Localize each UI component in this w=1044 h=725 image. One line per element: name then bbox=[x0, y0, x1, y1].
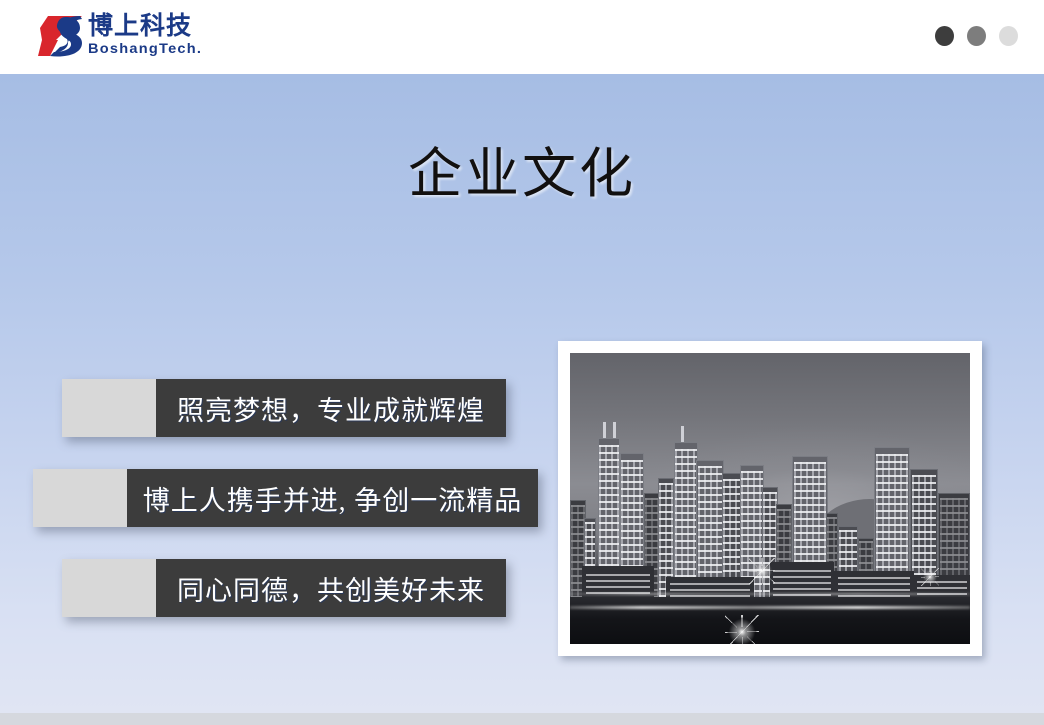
dot-mid-icon bbox=[967, 26, 986, 46]
header-dot-group bbox=[935, 26, 1018, 46]
slogan-text: 博上人携手并进, 争创一流精品 bbox=[143, 479, 523, 518]
logo-chinese-name: 博上科技 bbox=[88, 12, 238, 40]
slide-header: 博上科技 BoshangTech. bbox=[0, 0, 1044, 74]
slogan-body: 同心同德，共创美好未来 bbox=[156, 559, 506, 617]
logo-english-name: BoshangTech. bbox=[88, 40, 244, 57]
slogan-body: 博上人携手并进, 争创一流精品 bbox=[127, 469, 538, 527]
city-skyline-photo bbox=[570, 353, 970, 644]
slogan-tab bbox=[62, 559, 156, 617]
road-light-trail bbox=[570, 593, 970, 595]
slogan-body: 照亮梦想，专业成就辉煌 bbox=[156, 379, 506, 437]
company-logo[interactable]: 博上科技 BoshangTech. bbox=[36, 12, 236, 62]
logo-wordmark: 博上科技 BoshangTech. bbox=[88, 12, 238, 60]
slogan-tab bbox=[33, 469, 127, 527]
road-light-trail bbox=[570, 606, 970, 609]
slogan-bar: 博上人携手并进, 争创一流精品 bbox=[33, 469, 538, 527]
dot-light-icon bbox=[999, 26, 1018, 46]
slogan-text: 照亮梦想，专业成就辉煌 bbox=[177, 389, 485, 428]
slogan-bar: 照亮梦想，专业成就辉煌 bbox=[62, 379, 506, 437]
dot-dark-icon bbox=[935, 26, 954, 46]
slide-content-area: 企业文化 照亮梦想，专业成就辉煌 博上人携手并进, 争创一流精品 同心同德，共创… bbox=[0, 74, 1044, 713]
photo-foreground bbox=[570, 597, 970, 644]
slogan-text: 同心同德，共创美好未来 bbox=[177, 569, 485, 608]
presentation-slide: 博上科技 BoshangTech. 企业文化 照亮梦想，专业成就辉煌 博上人携手… bbox=[0, 0, 1044, 725]
photo-skyline bbox=[570, 394, 970, 615]
page-title: 企业文化 bbox=[0, 129, 1044, 208]
photo-frame bbox=[558, 341, 982, 656]
logo-mark-icon bbox=[36, 14, 84, 58]
slogan-tab bbox=[62, 379, 156, 437]
slogan-bar: 同心同德，共创美好未来 bbox=[62, 559, 506, 617]
